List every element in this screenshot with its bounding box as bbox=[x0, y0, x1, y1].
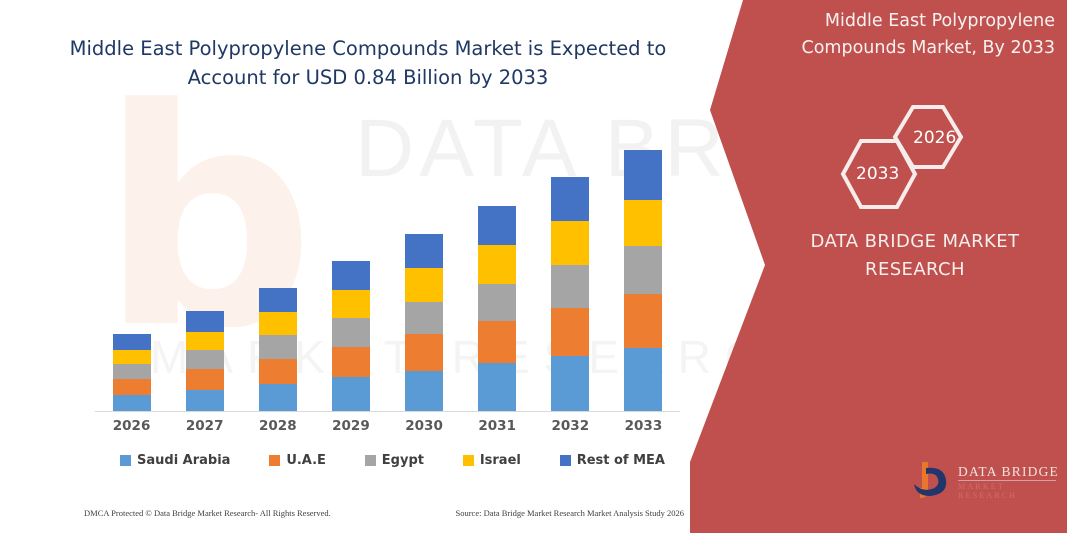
dbmr-logo: DATA BRIDGE MARKET RESEARCH bbox=[910, 458, 1060, 506]
legend-label: Rest of MEA bbox=[577, 453, 665, 468]
dbmr-logo-title: DATA BRIDGE bbox=[958, 464, 1059, 480]
bar-segment bbox=[186, 369, 224, 390]
bar-segment bbox=[551, 356, 589, 412]
bar-column-2032[interactable] bbox=[551, 177, 589, 412]
bar-segment bbox=[332, 261, 370, 290]
bar-segment bbox=[405, 268, 443, 302]
legend-swatch-icon bbox=[560, 455, 571, 466]
bar-segment bbox=[186, 350, 224, 369]
x-axis-label-2033: 2033 bbox=[613, 418, 673, 434]
legend-item[interactable]: U.A.E bbox=[269, 453, 326, 468]
bar-segment bbox=[332, 377, 370, 412]
infographic-root: b DATA BRIDGE MARKET RESEARCH Middle Eas… bbox=[0, 0, 1067, 533]
bar-column-2033[interactable] bbox=[624, 150, 662, 412]
legend-item[interactable]: Saudi Arabia bbox=[120, 453, 230, 468]
bar-segment bbox=[405, 302, 443, 335]
brand-block: DATA BRIDGE MARKET RESEARCH bbox=[790, 228, 1040, 284]
legend-item[interactable]: Rest of MEA bbox=[560, 453, 665, 468]
bar-segment bbox=[478, 206, 516, 244]
legend-swatch-icon bbox=[120, 455, 131, 466]
bar-segment bbox=[478, 284, 516, 321]
bar-segment bbox=[405, 234, 443, 268]
bar-column-2030[interactable] bbox=[405, 234, 443, 412]
bar-column-2028[interactable] bbox=[259, 288, 297, 412]
footer-source: Source: Data Bridge Market Research Mark… bbox=[455, 508, 684, 518]
bar-segment bbox=[551, 221, 589, 265]
dbmr-logo-subtitle: MARKET RESEARCH bbox=[958, 482, 1060, 500]
panel-title: Middle East Polypropylene Compounds Mark… bbox=[720, 8, 1055, 62]
page-title: Middle East Polypropylene Compounds Mark… bbox=[58, 34, 678, 92]
bar-segment bbox=[405, 334, 443, 370]
x-axis-label-2027: 2027 bbox=[175, 418, 235, 434]
dbmr-logo-mark-icon bbox=[910, 458, 956, 502]
bar-column-2029[interactable] bbox=[332, 261, 370, 412]
bar-segment bbox=[259, 335, 297, 358]
dbmr-logo-rule bbox=[958, 480, 1056, 481]
bar-segment bbox=[478, 363, 516, 412]
bar-column-2031[interactable] bbox=[478, 206, 516, 412]
footer: DMCA Protected © Data Bridge Market Rese… bbox=[84, 508, 684, 518]
legend-item[interactable]: Egypt bbox=[365, 453, 424, 468]
bar-segment bbox=[186, 311, 224, 332]
bar-column-2027[interactable] bbox=[186, 311, 224, 412]
legend-swatch-icon bbox=[463, 455, 474, 466]
bar-segment bbox=[259, 359, 297, 384]
bar-segment bbox=[186, 332, 224, 351]
bar-segment bbox=[259, 288, 297, 312]
bar-segment bbox=[624, 348, 662, 412]
bar-segment bbox=[405, 371, 443, 412]
bar-segment bbox=[478, 245, 516, 284]
legend-swatch-icon bbox=[269, 455, 280, 466]
legend-label: Saudi Arabia bbox=[137, 453, 230, 468]
bar-segment bbox=[259, 384, 297, 412]
bar-segment bbox=[332, 318, 370, 346]
hexagon-svg bbox=[815, 98, 1015, 213]
x-axis-label-2026: 2026 bbox=[102, 418, 162, 434]
bar-segment bbox=[551, 177, 589, 221]
bar-segment bbox=[113, 379, 151, 395]
stacked-bar-chart bbox=[95, 100, 680, 412]
bar-segment bbox=[332, 290, 370, 318]
x-axis-label-2032: 2032 bbox=[540, 418, 600, 434]
footer-copyright: DMCA Protected © Data Bridge Market Rese… bbox=[84, 508, 331, 518]
legend-label: Israel bbox=[480, 453, 521, 468]
legend-label: Egypt bbox=[382, 453, 424, 468]
bar-segment bbox=[551, 265, 589, 308]
bar-segment bbox=[113, 334, 151, 350]
bar-segment bbox=[259, 312, 297, 335]
bar-segment bbox=[113, 350, 151, 364]
bar-segment bbox=[478, 321, 516, 363]
hexagon-2033-label: 2033 bbox=[856, 164, 899, 184]
x-axis-label-2029: 2029 bbox=[321, 418, 381, 434]
hexagon-group: 2026 2033 bbox=[815, 98, 1015, 213]
x-axis-label-2028: 2028 bbox=[248, 418, 308, 434]
x-axis-label-2030: 2030 bbox=[394, 418, 454, 434]
bar-segment bbox=[624, 200, 662, 247]
bar-column-2026[interactable] bbox=[113, 334, 151, 412]
brand-line-1: DATA BRIDGE MARKET bbox=[790, 228, 1040, 256]
bar-segment bbox=[624, 246, 662, 294]
legend-label: U.A.E bbox=[286, 453, 326, 468]
bar-segment bbox=[113, 364, 151, 379]
chart-legend: Saudi ArabiaU.A.EEgyptIsraelRest of MEA bbox=[120, 453, 665, 468]
legend-item[interactable]: Israel bbox=[463, 453, 521, 468]
x-axis-line bbox=[95, 411, 680, 412]
bar-segment bbox=[113, 395, 151, 412]
bar-segment bbox=[551, 308, 589, 356]
bar-segment bbox=[624, 294, 662, 348]
bar-segment bbox=[332, 347, 370, 378]
legend-swatch-icon bbox=[365, 455, 376, 466]
bar-segment bbox=[624, 150, 662, 200]
x-axis-labels: 20262027202820292030203120322033 bbox=[95, 418, 680, 440]
hexagon-2026-label: 2026 bbox=[913, 128, 956, 148]
bar-segment bbox=[186, 390, 224, 412]
brand-line-2: RESEARCH bbox=[790, 256, 1040, 284]
x-axis-label-2031: 2031 bbox=[467, 418, 527, 434]
